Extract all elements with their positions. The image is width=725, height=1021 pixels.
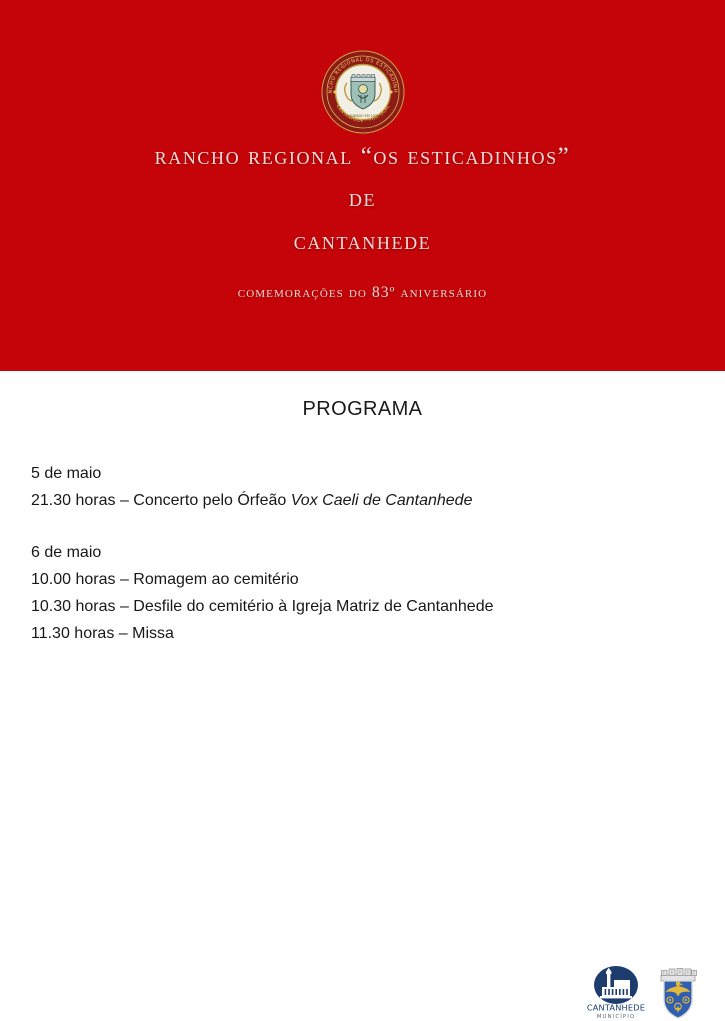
schedule-day-group: 6 de maio10.00 horas – Romagem ao cemité…	[31, 539, 631, 647]
cantanhede-municipio-logo: CANTANHEDE MUNICÍPIO	[586, 965, 646, 1021]
schedule-day-group: 5 de maio21.30 horas – Concerto pelo Órf…	[31, 460, 631, 514]
schedule-event-emphasis: Vox Caeli de Cantanhede	[291, 492, 473, 509]
municipio-logo-title: CANTANHEDE	[587, 1003, 645, 1013]
program-schedule: 5 de maio21.30 horas – Concerto pelo Órf…	[31, 460, 631, 647]
organization-title: Rancho Regional “Os Esticadinhos” De Can…	[0, 140, 725, 259]
footer-logos: CANTANHEDE MUNICÍPIO	[586, 965, 702, 1021]
poster-body: PROGRAMA 5 de maio21.30 horas – Concerto…	[0, 371, 725, 729]
schedule-date-label: 5 de maio	[31, 460, 631, 487]
org-title-line-1: Rancho Regional “Os Esticadinhos”	[0, 140, 725, 174]
schedule-event-line: 11.30 horas – Missa	[31, 620, 631, 647]
svg-text:FUNDADO EM 1935: FUNDADO EM 1935	[346, 114, 378, 118]
emblem-container: RANCHO REGIONAL OS ESTICADINHOS CANTANHE…	[0, 50, 725, 136]
anniversary-subtitle: Comemorações do 83º Aniversário	[0, 284, 725, 302]
poster-header-band: RANCHO REGIONAL OS ESTICADINHOS CANTANHE…	[0, 0, 725, 371]
schedule-event-text: 10.30 horas – Desfile do cemitério à Igr…	[31, 598, 493, 615]
page-title: PROGRAMA	[0, 398, 725, 421]
schedule-event-line: 10.00 horas – Romagem ao cemitério	[31, 566, 631, 593]
schedule-event-text: 11.30 horas – Missa	[31, 625, 174, 642]
schedule-event-line: 21.30 horas – Concerto pelo Órfeão Vox C…	[31, 487, 631, 514]
schedule-date-label: 6 de maio	[31, 539, 631, 566]
rancho-regional-emblem: RANCHO REGIONAL OS ESTICADINHOS CANTANHE…	[321, 50, 405, 134]
schedule-event-line: 10.30 horas – Desfile do cemitério à Igr…	[31, 593, 631, 620]
schedule-event-text: 21.30 horas – Concerto pelo Órfeão	[31, 492, 291, 509]
cantanhede-coat-of-arms	[656, 966, 700, 1020]
schedule-event-text: 10.00 horas – Romagem ao cemitério	[31, 571, 299, 588]
org-title-line-2: De	[0, 182, 725, 216]
municipio-logo-subtitle: MUNICÍPIO	[597, 1013, 636, 1020]
org-title-line-3: Cantanhede	[0, 225, 725, 259]
